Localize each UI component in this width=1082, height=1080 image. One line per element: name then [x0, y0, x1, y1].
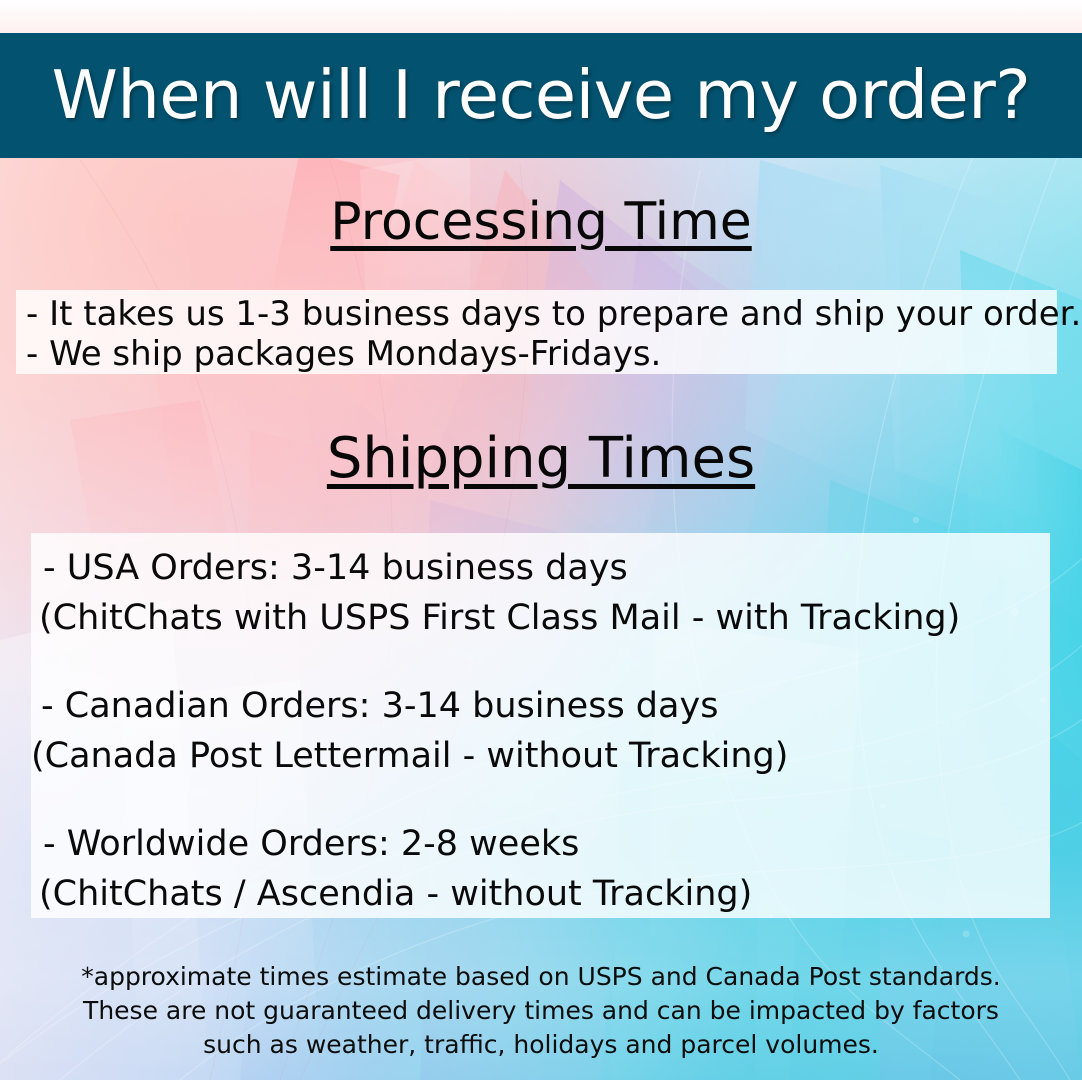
infographic-canvas: When will I receive my order? Processing… — [0, 0, 1082, 1080]
page-title: When will I receive my order? — [52, 62, 1031, 129]
footnote-line-3: such as weather, traffic, holidays and p… — [0, 1028, 1082, 1062]
header-banner: When will I receive my order? — [0, 33, 1082, 158]
shipping-times-panel: - USA Orders: 3-14 business days (ChitCh… — [31, 533, 1050, 918]
section-heading-shipping-times: Shipping Times — [0, 426, 1082, 491]
shipping-group-usa: - USA Orders: 3-14 business days (ChitCh… — [31, 543, 1050, 643]
shipping-canada-line-2: (Canada Post Lettermail - without Tracki… — [31, 731, 1050, 781]
processing-line-2: - We ship packages Mondays-Fridays. — [26, 334, 1057, 374]
footnote-disclaimer: *approximate times estimate based on USP… — [0, 960, 1082, 1062]
footnote-line-1: *approximate times estimate based on USP… — [0, 960, 1082, 994]
processing-line-1: - It takes us 1-3 business days to prepa… — [26, 294, 1057, 334]
background-top-edge — [0, 0, 1082, 34]
section-heading-processing-time: Processing Time — [0, 192, 1082, 252]
shipping-usa-line-1: - USA Orders: 3-14 business days — [31, 543, 1050, 593]
shipping-worldwide-line-1: - Worldwide Orders: 2-8 weeks — [31, 819, 1050, 869]
shipping-group-worldwide: - Worldwide Orders: 2-8 weeks (ChitChats… — [31, 819, 1050, 919]
processing-time-panel: - It takes us 1-3 business days to prepa… — [16, 290, 1057, 374]
shipping-usa-line-2: (ChitChats with USPS First Class Mail - … — [31, 593, 1050, 643]
footnote-line-2: These are not guaranteed delivery times … — [0, 994, 1082, 1028]
shipping-group-canada: - Canadian Orders: 3-14 business days (C… — [31, 681, 1050, 781]
shipping-canada-line-1: - Canadian Orders: 3-14 business days — [31, 681, 1050, 731]
shipping-worldwide-line-2: (ChitChats / Ascendia - without Tracking… — [31, 869, 1050, 919]
